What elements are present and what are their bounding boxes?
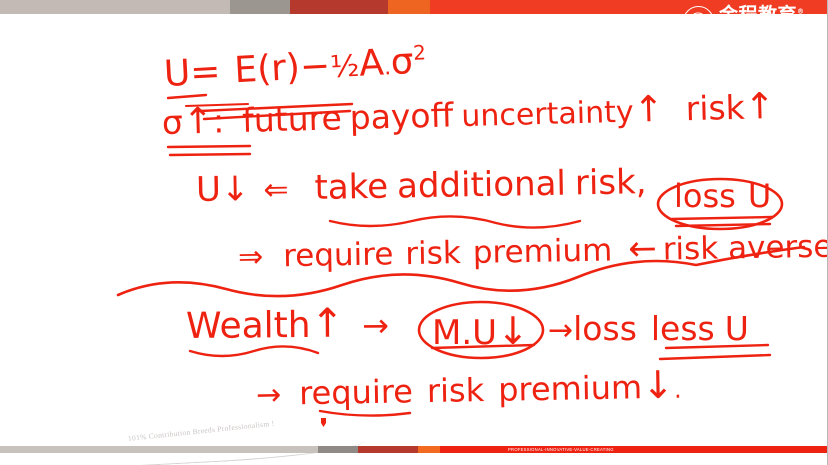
token-squared: 2 [412, 40, 426, 65]
topbar-segment-dark-red [290, 0, 388, 14]
token-take: take [314, 167, 388, 208]
footer-tagline: PROFESSIONAL-INNOVATIVE-VALUE-CREATING [508, 446, 614, 453]
token-premium-1: premium [472, 232, 612, 270]
topbar-segment-grey [230, 0, 290, 14]
underline-sigma-2 [170, 154, 250, 155]
token-require-1: require [283, 236, 394, 274]
token-future: future [242, 98, 343, 140]
underline-less-u-2 [660, 355, 770, 359]
token-utility-u: U [196, 170, 222, 210]
underline-sigma-1 [168, 146, 250, 147]
token-arrow-left-1: ← [628, 229, 657, 269]
token-arrow-up-3: ↑ [744, 86, 775, 128]
token-payoff: payoff [349, 95, 454, 137]
token-risk-aversion-a: A [358, 43, 385, 85]
token-colon: : [213, 101, 225, 140]
token-arrow-right-double: ⇒ [238, 240, 264, 275]
note-line-5: Wealth↑→ [186, 300, 389, 348]
token-arrow-right-2: → [548, 313, 573, 348]
token-arrow-right-3: → [256, 378, 282, 413]
botbar-segment-orange [418, 446, 440, 453]
topbar-segment-light-grey [0, 0, 230, 14]
underline-take-additional-risk [330, 216, 580, 227]
token-risk-2: risk, [575, 162, 647, 203]
token-u-final: U [725, 309, 749, 348]
token-period: . [674, 376, 682, 404]
note-line-6: →requireriskpremium↓. [256, 363, 682, 414]
token-arrow-down-2: ↓ [497, 309, 529, 353]
token-premium-2: premium [498, 368, 643, 409]
token-minus: − [299, 45, 331, 88]
bottom-color-bar [0, 446, 828, 453]
botbar-segment-dark-red [358, 446, 418, 453]
token-loss-u: U [748, 177, 771, 215]
token-wealth: Wealth [186, 305, 311, 347]
slide-footer: 101% Contribution Breeds Professionalism… [0, 432, 828, 465]
note-line-5-tail: →losslessU [548, 309, 749, 348]
topbar-segment-orange [388, 0, 430, 14]
token-risk-1: risk [685, 88, 745, 129]
token-less: less [651, 309, 715, 348]
token-additional: additional [397, 164, 567, 207]
botbar-segment-grey [318, 446, 358, 453]
underline-u [168, 95, 206, 98]
token-arrow-up-4: ↑ [310, 301, 344, 347]
token-arrow-up-1: ↑ [182, 101, 213, 143]
botbar-segment-light-grey [0, 446, 318, 453]
token-arrow-right-1: → [362, 306, 389, 344]
token-arrow-up-2: ↑ [633, 89, 664, 131]
slide-screenshot: 金程教育® GOLDEN FUTURE [0, 0, 828, 465]
token-risk-4: risk [427, 371, 485, 410]
token-arrow-left-double: ⇐ [263, 172, 289, 207]
token-loss-2: loss [573, 309, 637, 348]
token-one-half: ½ [329, 49, 360, 85]
token-risk-averse: risk averse [662, 229, 828, 268]
underline-loss-u-1 [672, 217, 772, 219]
token-sigma: σ [390, 41, 415, 83]
whiteboard-canvas: U=E(r)−½A.σ2 σ↑:futurepayoffuncertainty↑… [0, 14, 828, 432]
token-uncertainty: uncertainty [461, 95, 634, 134]
note-marginal-utility-group: M.U↓ [432, 309, 529, 353]
token-u: U [163, 53, 191, 95]
note-loss-u-group: lossU [674, 177, 771, 215]
token-loss-1: loss [674, 177, 736, 215]
token-marginal-utility: M.U [432, 313, 497, 353]
token-expected-return: E(r) [233, 47, 301, 91]
underline-wealth [190, 346, 318, 356]
token-risk-3: risk [405, 235, 461, 272]
token-arrow-down-1: ↓ [221, 169, 250, 209]
token-sigma-2: σ [161, 102, 183, 142]
token-require-2: require [299, 372, 413, 412]
token-arrow-down-3: ↓ [642, 363, 675, 408]
botbar-segment-red [440, 446, 828, 453]
note-line-3: U↓⇐takeadditionalrisk, [196, 162, 647, 210]
token-equals: = [189, 51, 221, 94]
